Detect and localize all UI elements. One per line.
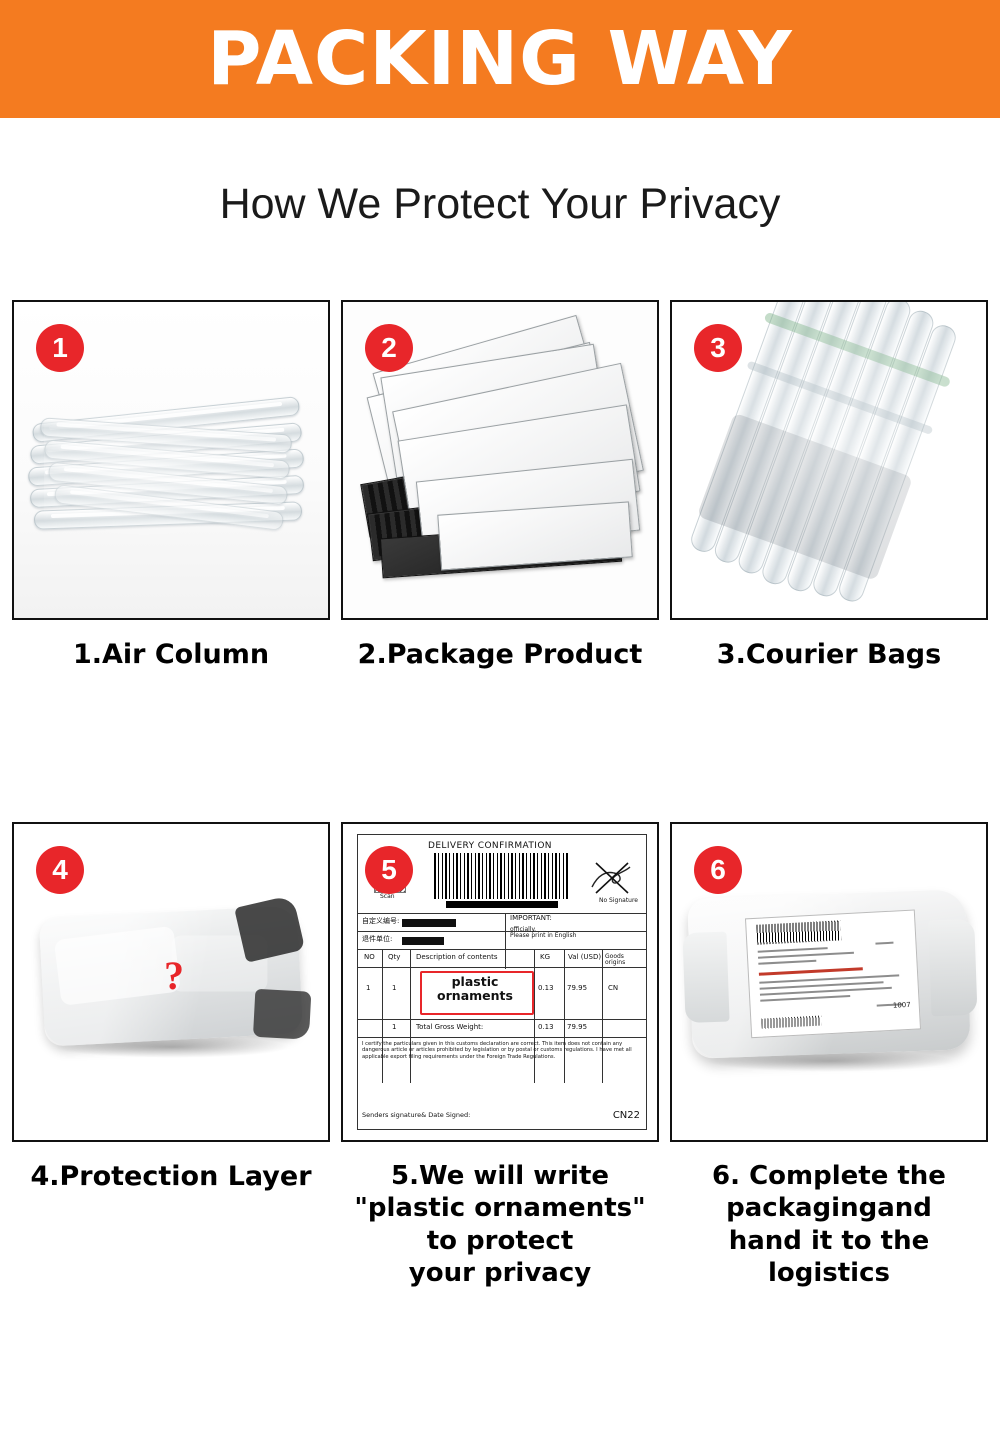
step-caption-5: 5.We will write "plastic ornaments" to p…	[341, 1160, 659, 1290]
delivery-confirmation-title: DELIVERY CONFIRMATION	[428, 841, 552, 851]
col-header-no: NO	[364, 954, 375, 962]
step-card-3: 3 3.Courier Bags	[670, 300, 988, 672]
steps-row-1: 1 1.Air Column	[0, 300, 1000, 672]
step-caption-6-line1: 6. Complete the	[670, 1160, 988, 1193]
step-card-2: 2 2.Package Product	[341, 300, 659, 672]
step-caption-5-line4: your privacy	[341, 1257, 659, 1290]
step-1-image-frame: 1	[12, 300, 330, 620]
step-caption-5-line3: to protect	[341, 1225, 659, 1258]
return-unit-label: 退件单位:	[362, 936, 392, 944]
step-badge-6: 6	[694, 846, 742, 894]
total-val: 79.95	[567, 1024, 587, 1032]
step-badge-3: 3	[694, 324, 742, 372]
step-3-image-frame: 3	[670, 300, 988, 620]
page-subtitle: How We Protect Your Privacy	[220, 180, 781, 228]
page-title: PACKING WAY	[207, 22, 792, 96]
barcode-icon	[434, 853, 570, 899]
question-mark-annotation: ?	[164, 952, 184, 999]
step-caption-3: 3.Courier Bags	[670, 638, 988, 672]
step-badge-4: 4	[36, 846, 84, 894]
shipping-label-barcode-icon	[756, 920, 841, 944]
shipping-label-tracking-code: 1007	[893, 1001, 911, 1010]
total-qty: 1	[392, 1024, 396, 1032]
no-signature-label: No Signature	[599, 897, 638, 904]
row-kg: 0.13	[538, 985, 554, 993]
signature-label: Senders signature& Date Signed:	[362, 1112, 470, 1119]
row-val: 79.95	[567, 985, 587, 993]
step-badge-5: 5	[365, 846, 413, 894]
no-signature-icon	[584, 853, 636, 901]
step-2-image-frame: 2	[341, 300, 659, 620]
step-6-image-frame: 1007 6	[670, 822, 988, 1142]
step-card-6: 1007 6 6. Complete the packagingand hand…	[670, 822, 988, 1290]
page-header-banner: PACKING WAY	[0, 0, 1000, 118]
step-caption-5-line2: "plastic ornaments"	[341, 1192, 659, 1225]
steps-grid: 1 1.Air Column	[0, 300, 1000, 1290]
step-card-5: DELIVERY CONFIRMATION Scan No	[341, 822, 659, 1290]
step-caption-2: 2.Package Product	[341, 638, 659, 672]
row-qty: 1	[392, 985, 396, 993]
steps-row-2: ? 4 4.Protection Layer DELIVERY CONFIRMA…	[0, 822, 1000, 1290]
step-4-image-frame: ? 4	[12, 822, 330, 1142]
important-label: IMPORTANT:	[510, 915, 552, 923]
scan-label: Scan	[380, 893, 395, 900]
shipping-label: 1007	[745, 909, 921, 1038]
declaration-text: I certify the particulars given in this …	[362, 1041, 642, 1061]
form-code: CN22	[613, 1110, 640, 1121]
step-badge-2: 2	[365, 324, 413, 372]
step-5-image-frame: DELIVERY CONFIRMATION Scan No	[341, 822, 659, 1142]
step-badge-1: 1	[36, 324, 84, 372]
col-header-val: Val (USD)	[568, 954, 601, 962]
col-header-origin: Goods origins	[605, 954, 646, 967]
step-caption-5-line1: 5.We will write	[341, 1160, 659, 1193]
row-no: 1	[366, 985, 370, 993]
col-header-kg: KG	[540, 954, 550, 962]
col-header-description: Description of contents	[416, 954, 498, 962]
step-caption-1: 1.Air Column	[12, 638, 330, 672]
important-text: officially. Please print in English	[510, 927, 576, 940]
step-card-4: ? 4 4.Protection Layer	[12, 822, 330, 1290]
step-caption-6-line3: hand it to the logistics	[670, 1225, 988, 1290]
step-caption-6-line2: packagingand	[670, 1192, 988, 1225]
barcode-number	[446, 901, 558, 908]
total-kg: 0.13	[538, 1024, 554, 1032]
total-label: Total Gross Weight:	[416, 1024, 483, 1032]
row-origin: CN	[608, 985, 618, 993]
row-description: plastic ornaments	[420, 975, 530, 1004]
step-caption-4: 4.Protection Layer	[12, 1160, 330, 1194]
step-card-1: 1 1.Air Column	[12, 300, 330, 672]
col-header-qty: Qty	[388, 954, 400, 962]
subtitle-container: How We Protect Your Privacy	[0, 180, 1000, 229]
step-caption-6: 6. Complete the packagingand hand it to …	[670, 1160, 988, 1290]
custom-no-label: 自定义编号:	[362, 918, 399, 926]
